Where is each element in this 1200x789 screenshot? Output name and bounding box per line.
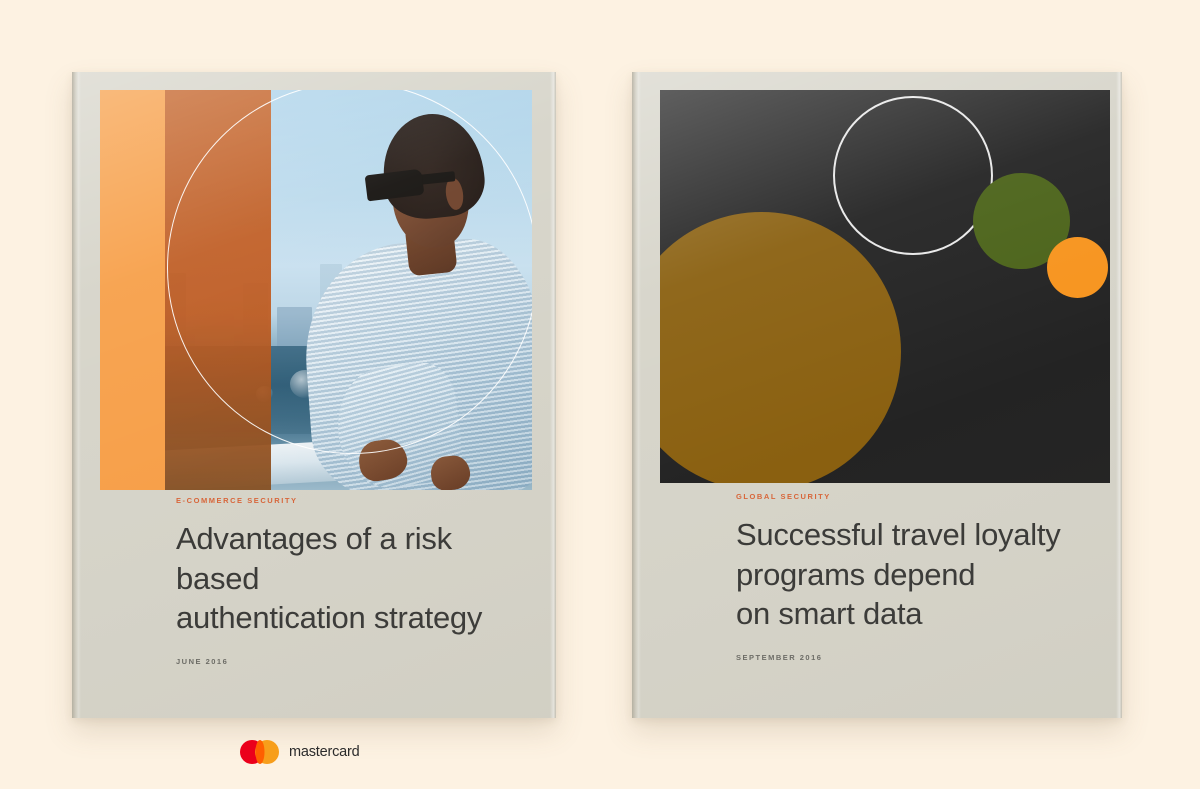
- cover-eyebrow: E-COMMERCE SECURITY: [176, 496, 522, 505]
- hair: [378, 109, 488, 223]
- person-figure: [247, 90, 532, 490]
- duotone-band-light: [100, 90, 165, 490]
- book-spine-edge: [632, 72, 641, 718]
- cover-text-right: GLOBAL SECURITY Successful travel loyalt…: [736, 492, 1088, 662]
- cover-title-line: Successful travel loyalty: [736, 517, 1061, 552]
- mastercard-wordmark: mastercard: [289, 744, 360, 760]
- large-brown-circle: [660, 212, 901, 483]
- cover-date: SEPTEMBER 2016: [736, 653, 1088, 662]
- book-spine-edge: [72, 72, 81, 718]
- duotone-band-dark: [165, 90, 271, 490]
- report-cover-right[interactable]: GLOBAL SECURITY Successful travel loyalt…: [632, 72, 1122, 718]
- dark-panel: [660, 90, 1110, 483]
- cover-artwork-left: [100, 90, 532, 490]
- cover-artwork-right: [660, 90, 1110, 483]
- cover-title-line: authentication strategy: [176, 600, 482, 635]
- cover-title-line: programs depend: [736, 557, 975, 592]
- cover-eyebrow: GLOBAL SECURITY: [736, 492, 1088, 501]
- cover-date: JUNE 2016: [176, 657, 522, 666]
- report-cover-left[interactable]: E-COMMERCE SECURITY Advantages of a risk…: [72, 72, 556, 718]
- scene-canvas: E-COMMERCE SECURITY Advantages of a risk…: [0, 0, 1200, 789]
- cover-text-left: E-COMMERCE SECURITY Advantages of a risk…: [176, 496, 522, 666]
- mastercard-overlap-shape: [255, 740, 264, 764]
- book-page-edge: [1116, 72, 1122, 718]
- book-page-edge: [550, 72, 556, 718]
- cover-title: Successful travel loyalty programs depen…: [736, 515, 1088, 634]
- cover-title-line: Advantages of a risk based: [176, 521, 452, 596]
- orange-circle: [1047, 237, 1108, 298]
- white-outline-circle: [833, 96, 993, 255]
- mastercard-lockup: mastercard: [240, 740, 360, 764]
- cover-title-line: on smart data: [736, 596, 922, 631]
- cover-photo: [100, 90, 532, 490]
- cover-title: Advantages of a risk based authenticatio…: [176, 519, 522, 638]
- mastercard-logo-icon: [240, 740, 279, 764]
